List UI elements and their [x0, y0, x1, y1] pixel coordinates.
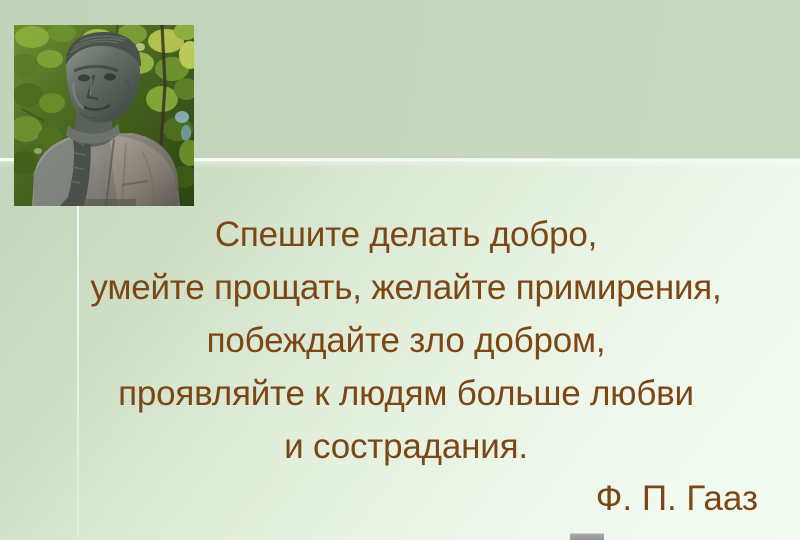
presentation-slide: Спешите делать добро, умейте прощать, же…	[0, 0, 800, 540]
cut-off-bottom-element	[570, 533, 604, 540]
quote-text-block: Спешите делать добро, умейте прощать, же…	[40, 208, 772, 473]
quote-attribution: Ф. П. Гааз	[40, 472, 758, 525]
quote-line-1: Спешите делать добро,	[40, 208, 772, 261]
quote-line-4: проявляйте к людям больше любви	[40, 367, 772, 420]
quote-line-2: умейте прощать, желайте примирения,	[40, 261, 772, 314]
quote-line-3: побеждайте зло добром,	[40, 314, 772, 367]
quote-line-5: и сострадания.	[40, 420, 772, 473]
bust-photo	[14, 25, 194, 206]
